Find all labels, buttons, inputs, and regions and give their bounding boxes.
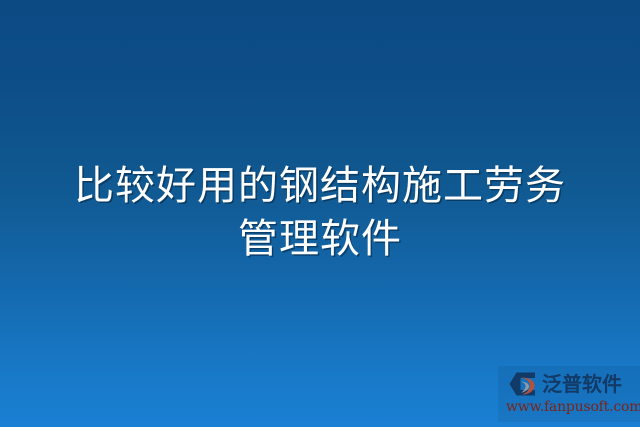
presentation-slide: 比较好用的钢结构施工劳务 管理软件 泛普软件 www.fanpusoft.com	[0, 0, 640, 427]
title-line-2: 管理软件	[24, 213, 616, 266]
title-line-1: 比较好用的钢结构施工劳务	[24, 160, 616, 213]
logo-url-text: www.fanpusoft.com	[506, 398, 640, 416]
slide-title-block: 比较好用的钢结构施工劳务 管理软件	[0, 160, 640, 266]
logo-wordmark: 泛普软件	[542, 372, 622, 396]
logo-row: 泛普软件	[508, 372, 622, 396]
fanpu-shield-icon	[508, 372, 538, 396]
logo-watermark: 泛普软件 www.fanpusoft.com	[498, 366, 640, 422]
